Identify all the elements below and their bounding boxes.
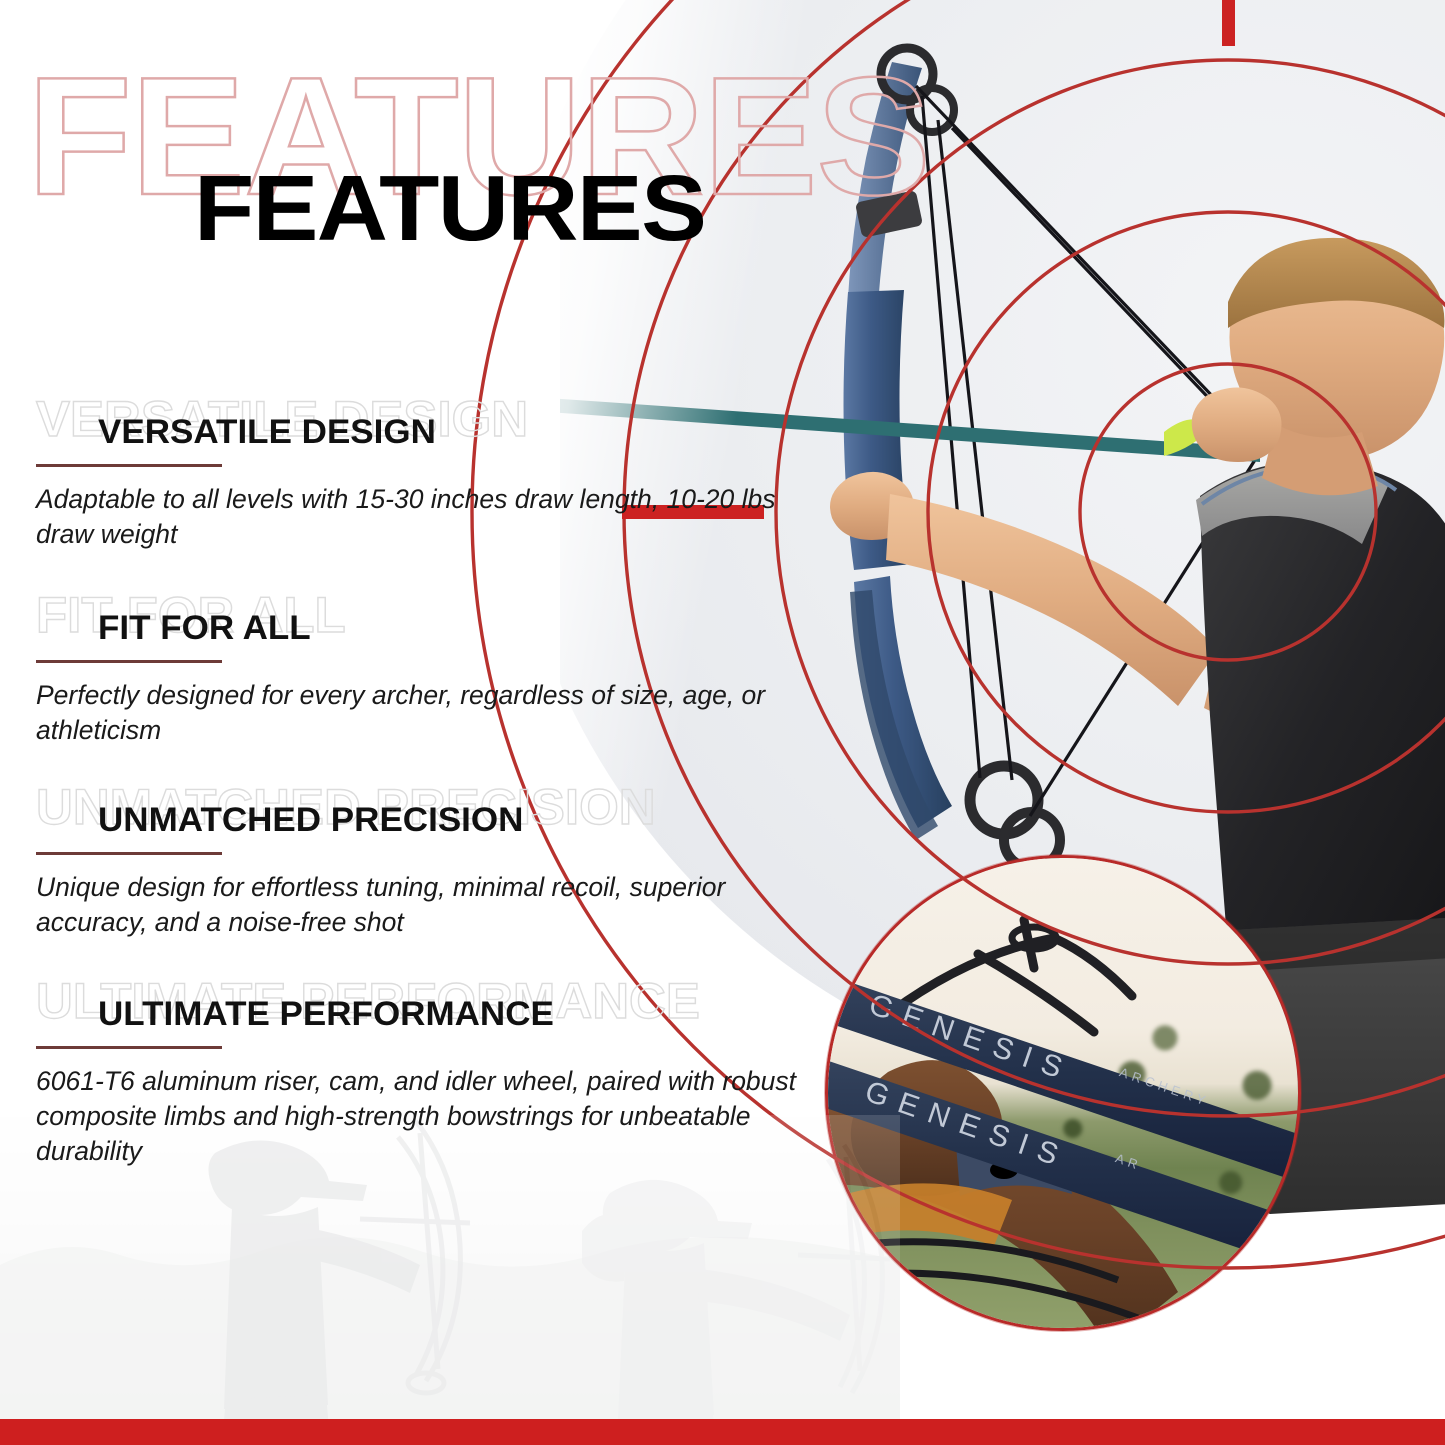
- feature-underline-rule: [36, 1046, 222, 1049]
- feature-heading-group: FIT FOR ALL FIT FOR ALL: [36, 594, 826, 656]
- footer-accent-bar: [0, 1419, 1445, 1445]
- infographic-page: GENESIS ARCHERY GENESIS AR: [0, 0, 1445, 1445]
- feature-heading-group: UNMATCHED PRECISION UNMATCHED PRECISION: [36, 786, 826, 848]
- feature-heading: UNMATCHED PRECISION: [98, 803, 523, 837]
- feature-heading: ULTIMATE PERFORMANCE: [98, 997, 554, 1031]
- feature-body-text: Unique design for effortless tuning, min…: [36, 870, 826, 940]
- feature-heading: FIT FOR ALL: [98, 611, 311, 645]
- feature-underline-rule: [36, 660, 222, 663]
- feature-body-text: Perfectly designed for every archer, reg…: [36, 678, 826, 748]
- feature-heading-group: VERSATILE DESIGN VERSATILE DESIGN: [36, 398, 826, 460]
- feature-block-unmatched-precision: UNMATCHED PRECISION UNMATCHED PRECISION …: [36, 786, 826, 848]
- page-title-group: FEATURES FEATURES: [36, 52, 1086, 262]
- feature-block-ultimate-performance: ULTIMATE PERFORMANCE ULTIMATE PERFORMANC…: [36, 980, 826, 1042]
- feature-underline-rule: [36, 464, 222, 467]
- feature-heading: VERSATILE DESIGN: [98, 415, 436, 449]
- feature-block-fit-for-all: FIT FOR ALL FIT FOR ALL Perfectly design…: [36, 594, 826, 656]
- feature-underline-rule: [36, 852, 222, 855]
- feature-body-text: Adaptable to all levels with 15-30 inche…: [36, 482, 826, 552]
- features-content: FEATURES FEATURES VERSATILE DESIGN VERSA…: [0, 0, 830, 1445]
- page-title: FEATURES: [194, 162, 705, 255]
- crosshair-tick-top: [1222, 0, 1235, 46]
- feature-body-text: 6061-T6 aluminum riser, cam, and idler w…: [36, 1064, 826, 1170]
- feature-block-versatile-design: VERSATILE DESIGN VERSATILE DESIGN Adapta…: [36, 398, 826, 460]
- feature-heading-group: ULTIMATE PERFORMANCE ULTIMATE PERFORMANC…: [36, 980, 826, 1042]
